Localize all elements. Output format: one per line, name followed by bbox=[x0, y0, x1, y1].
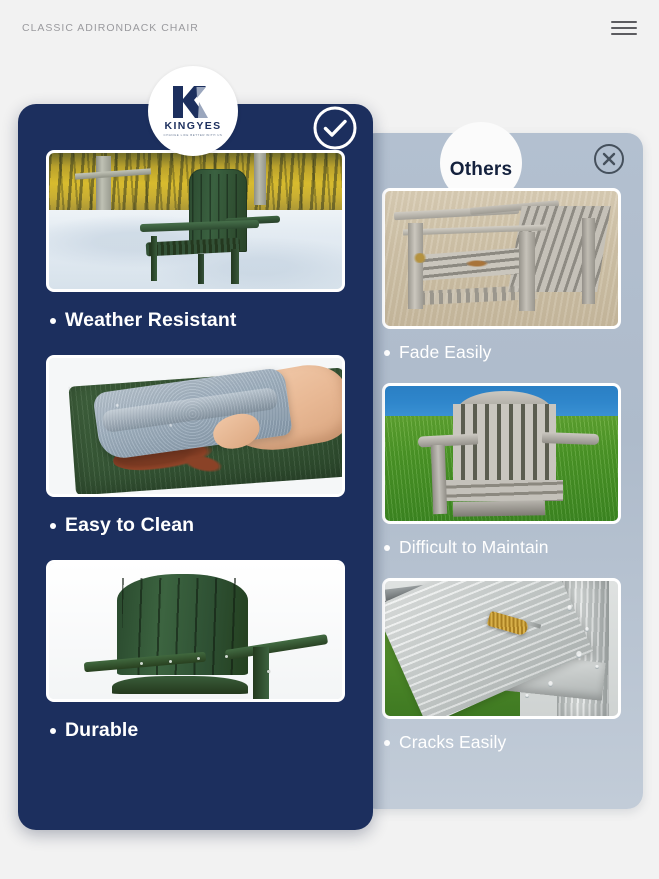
bullet-icon bbox=[50, 728, 56, 734]
kingyes-feature-item: Weather Resistant bbox=[46, 150, 345, 347]
others-feature-item: Cracks Easily bbox=[382, 578, 621, 765]
others-feature-label-row: Difficult to Maintain bbox=[382, 524, 621, 570]
bullet-icon bbox=[50, 523, 56, 529]
bullet-icon bbox=[384, 545, 390, 551]
others-feature-label: Fade Easily bbox=[399, 342, 492, 363]
hand-wiping-chair-with-towel-image bbox=[46, 355, 345, 497]
brand-tagline: CHANGE LIFE BETTER WITH US bbox=[164, 134, 223, 137]
others-feature-item: Difficult to Maintain bbox=[382, 383, 621, 570]
kingyes-feature-label-row: Easy to Clean bbox=[46, 497, 345, 552]
others-feature-label-row: Fade Easily bbox=[382, 329, 621, 375]
green-chair-back-closeup-image bbox=[46, 560, 345, 702]
kingyes-feature-label: Durable bbox=[65, 719, 138, 742]
others-feature-item: Fade Easily bbox=[382, 188, 621, 375]
kingyes-feature-item: Easy to Clean bbox=[46, 355, 345, 552]
kingyes-feature-item: Durable bbox=[46, 560, 345, 757]
others-feature-label: Difficult to Maintain bbox=[399, 537, 549, 558]
bullet-icon bbox=[384, 350, 390, 356]
comparison-stage: Others bbox=[0, 0, 659, 879]
others-feature-list: Fade Easily bbox=[360, 133, 643, 809]
kingyes-k-logo-icon bbox=[170, 85, 216, 119]
cracked-wet-gray-board-with-loose-screw-image bbox=[382, 578, 621, 719]
kingyes-feature-label: Easy to Clean bbox=[65, 514, 194, 537]
kingyes-feature-list: Weather Resistant bbox=[18, 104, 373, 830]
faded-gray-weathered-chair-on-sand-image bbox=[382, 188, 621, 329]
bullet-icon bbox=[50, 318, 56, 324]
others-feature-label-row: Cracks Easily bbox=[382, 719, 621, 765]
gray-weathered-chair-on-grass-near-water-image bbox=[382, 383, 621, 524]
product-comparison-page: CLASSIC ADIRONDACK CHAIR Others bbox=[0, 0, 659, 879]
circled-check-icon bbox=[311, 104, 359, 152]
green-adirondack-chair-in-snow-image bbox=[46, 150, 345, 292]
kingyes-feature-label: Weather Resistant bbox=[65, 309, 236, 332]
brand-name: KINGYES bbox=[164, 121, 221, 132]
bullet-icon bbox=[384, 740, 390, 746]
kingyes-feature-label-row: Weather Resistant bbox=[46, 292, 345, 347]
kingyes-logo-badge: KINGYES CHANGE LIFE BETTER WITH US bbox=[148, 66, 238, 156]
kingyes-feature-label-row: Durable bbox=[46, 702, 345, 757]
circled-cross-icon bbox=[593, 143, 625, 175]
others-feature-label: Cracks Easily bbox=[399, 732, 506, 753]
